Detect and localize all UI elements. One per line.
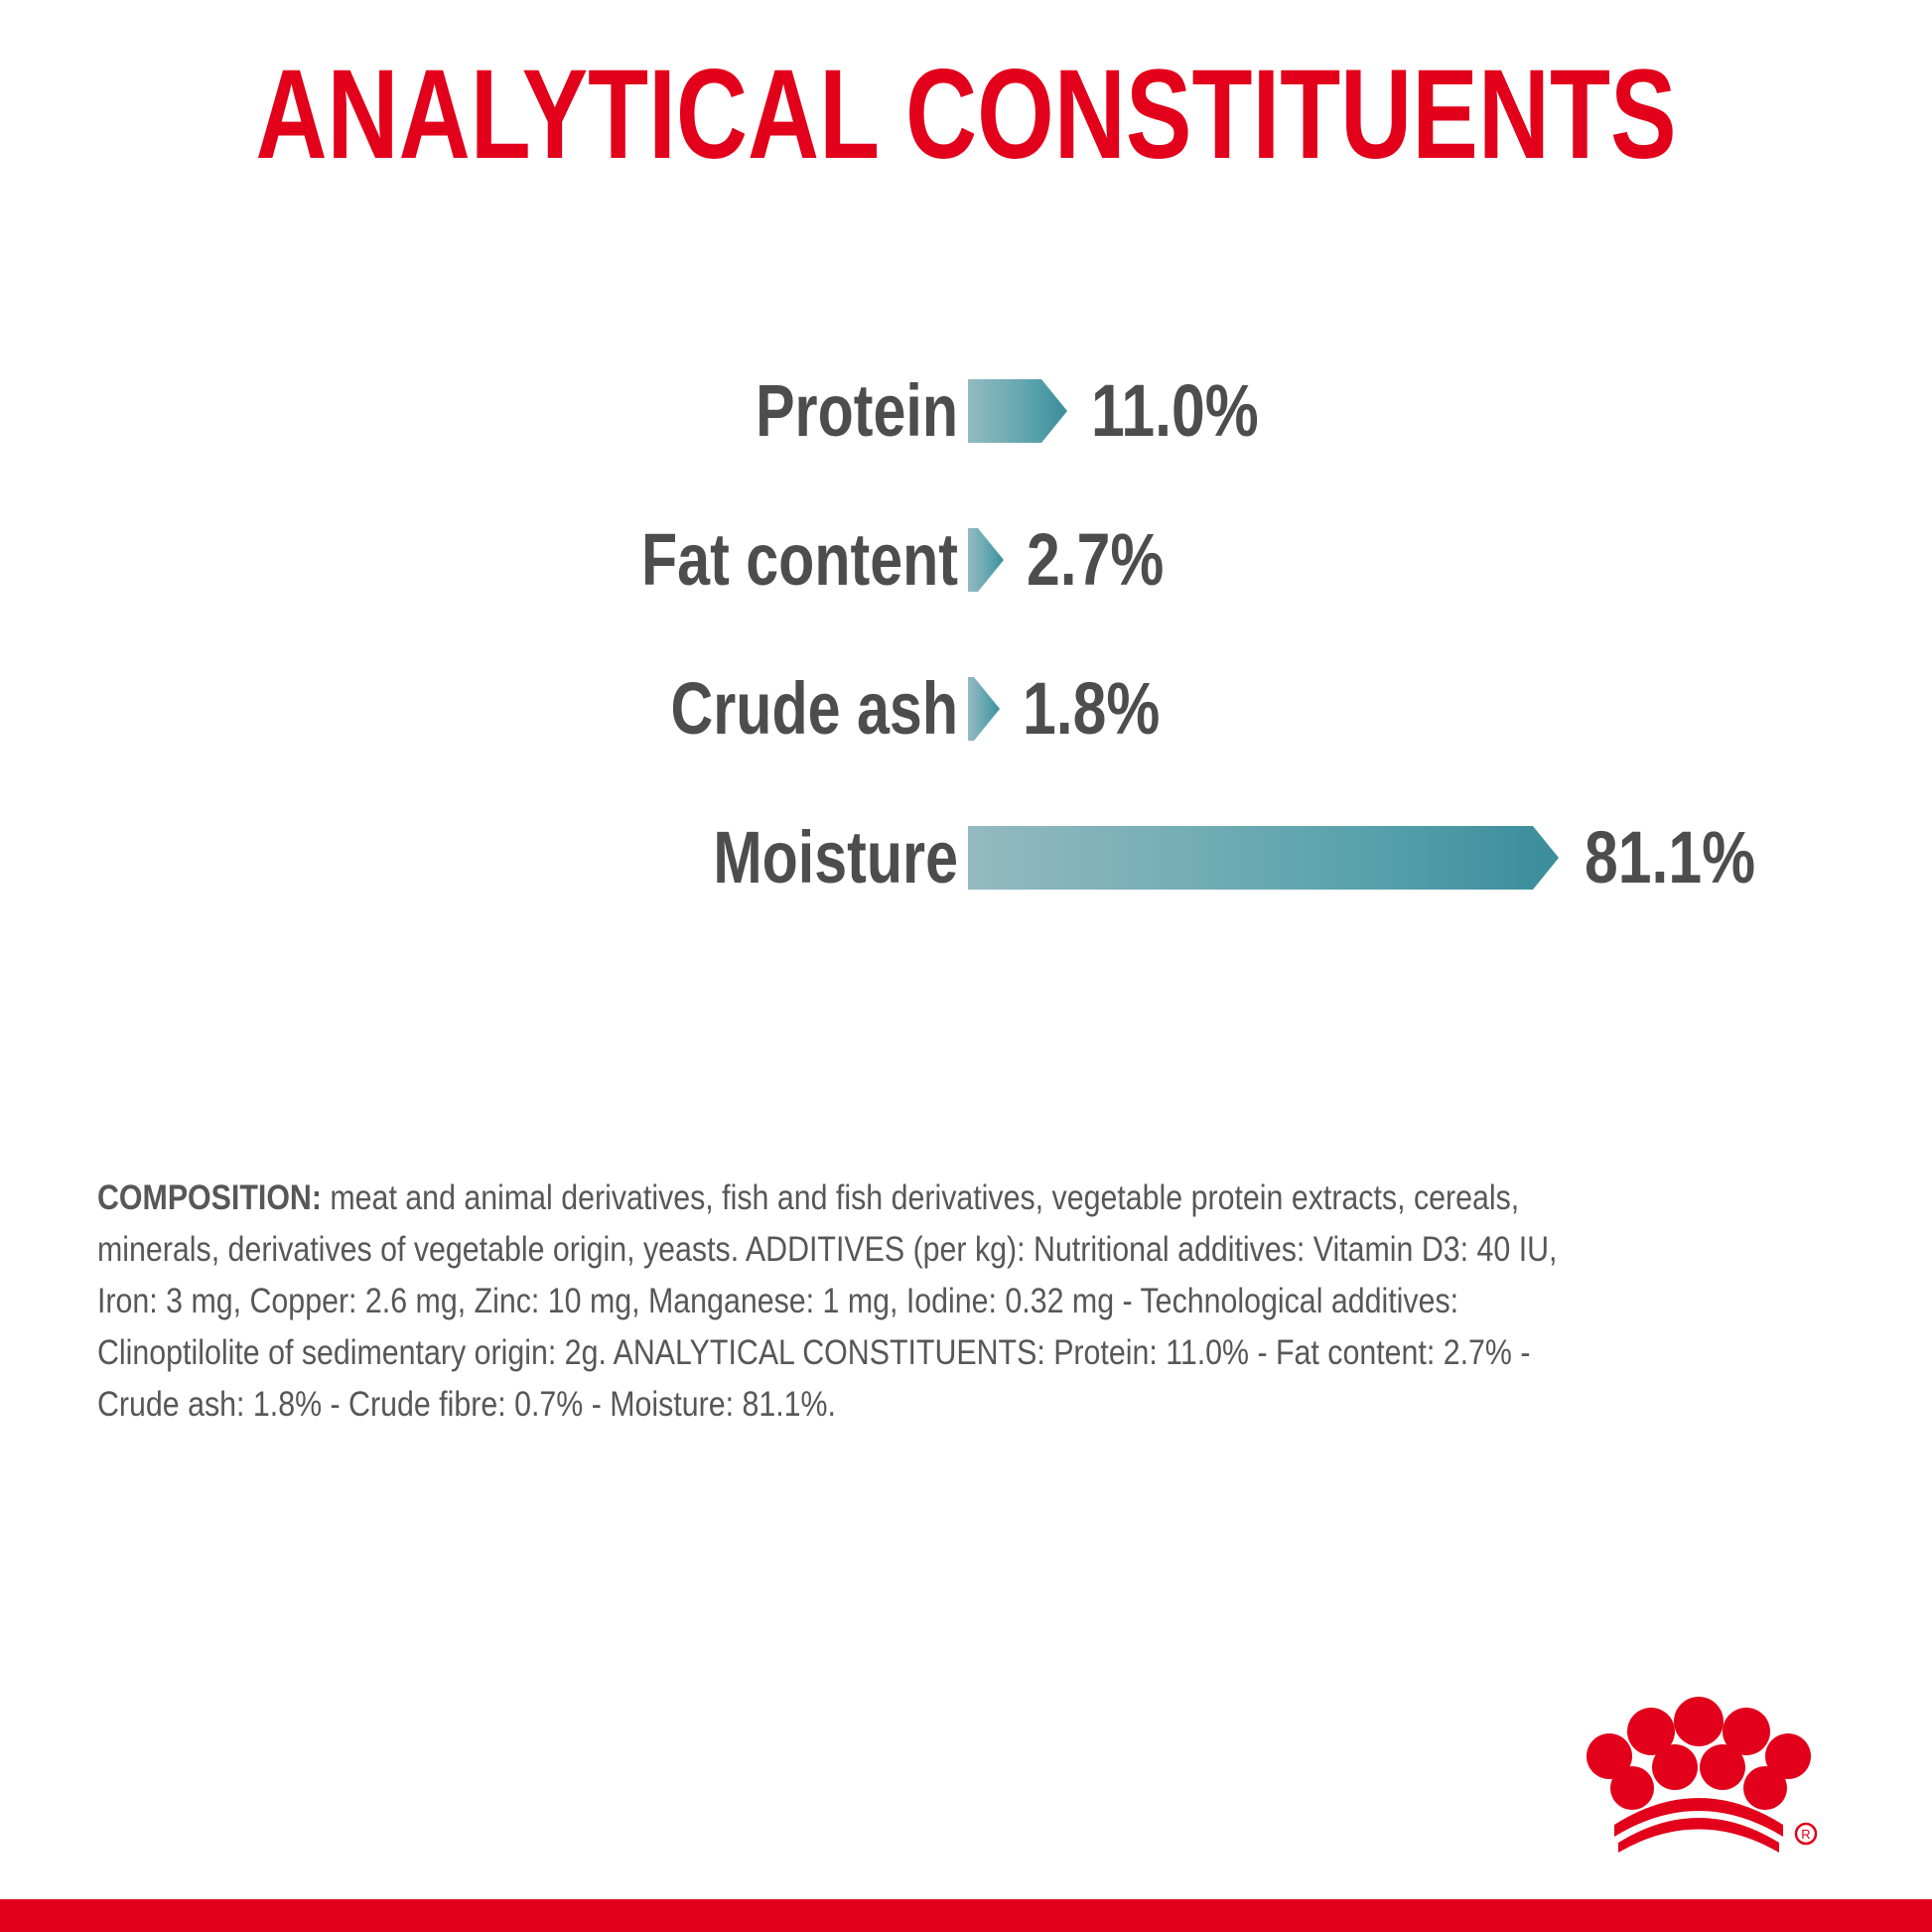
nutrient-label-protein: Protein (402, 361, 958, 461)
composition-text: COMPOSITION: meat and animal derivatives… (97, 1172, 1593, 1430)
nutrient-value-protein: 11.0% (1091, 359, 1259, 463)
bar-fill (968, 379, 1067, 443)
bar-fill (968, 677, 1000, 741)
svg-text:R: R (1801, 1827, 1810, 1842)
nutrient-bar-protein (968, 379, 1067, 443)
page-title: ANALYTICAL CONSTITUENTS (212, 52, 1720, 179)
nutrient-row: Protein 11.0% (0, 357, 1932, 506)
nutrient-row: Fat content 2.7% (0, 506, 1932, 655)
nutrient-value-moisture: 81.1% (1585, 806, 1755, 909)
nutrient-value-fat-content: 2.7% (1027, 508, 1164, 612)
bar-fill (968, 826, 1559, 890)
nutrient-label-moisture: Moisture (402, 808, 958, 907)
nutrient-label-fat-content: Fat content (402, 510, 958, 610)
nutrient-bar-crude-ash (968, 677, 1000, 741)
bar-fill (968, 528, 1004, 592)
bottom-red-bar (0, 1899, 1932, 1932)
nutrient-label-crude-ash: Crude ash (402, 659, 958, 759)
nutrient-bar-fat-content (968, 528, 1004, 592)
composition-heading: COMPOSITION: (97, 1177, 322, 1217)
analytical-constituents-panel: ANALYTICAL CONSTITUENTS Protein 11.0% Fa… (0, 0, 1932, 1932)
nutrient-row: Crude ash 1.8% (0, 655, 1932, 804)
nutrient-bar-moisture (968, 826, 1559, 890)
nutrient-value-crude-ash: 1.8% (1023, 657, 1160, 760)
royal-canin-crown-logo: R (1575, 1676, 1823, 1864)
nutrient-row: Moisture 81.1% (0, 804, 1932, 953)
nutrient-bar-chart: Protein 11.0% Fat content 2.7% Crude ash… (0, 357, 1932, 953)
